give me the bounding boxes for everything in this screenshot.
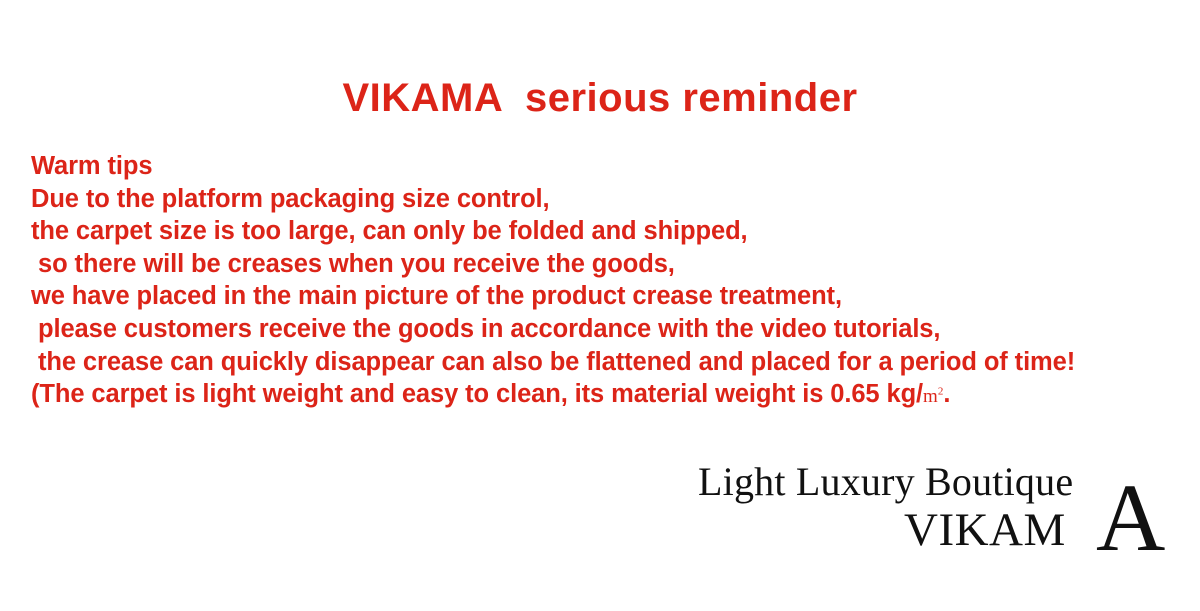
notice-line: Warm tips: [31, 150, 1181, 183]
brand-wordmark: VIKAM: [904, 507, 1066, 554]
notice-text-block: Warm tips Due to the platform packaging …: [31, 150, 1181, 414]
notice-final-prefix: (The carpet is light weight and easy to …: [31, 380, 923, 408]
reminder-page: VIKAMA serious reminder Warm tips Due to…: [0, 0, 1200, 611]
unit-base: m: [923, 386, 938, 407]
unit-square-meter: m2: [923, 386, 943, 407]
notice-final-suffix: .: [943, 380, 950, 408]
brand-logo: Light Luxury Boutique VIKAM A: [698, 462, 1168, 592]
notice-line: please customers receive the goods in ac…: [31, 313, 1181, 346]
notice-line: the carpet size is too large, can only b…: [31, 215, 1181, 248]
notice-line: the crease can quickly disappear can als…: [31, 346, 1181, 379]
notice-line: so there will be creases when you receiv…: [31, 248, 1181, 281]
notice-line: we have placed in the main picture of th…: [31, 280, 1181, 313]
notice-line-final: (The carpet is light weight and easy to …: [31, 378, 1181, 414]
page-title: VIKAMA serious reminder: [0, 76, 1200, 120]
notice-line: Due to the platform packaging size contr…: [31, 183, 1181, 216]
brand-wordmark-large-a: A: [1096, 470, 1165, 566]
brand-tagline: Light Luxury Boutique: [698, 462, 1073, 502]
